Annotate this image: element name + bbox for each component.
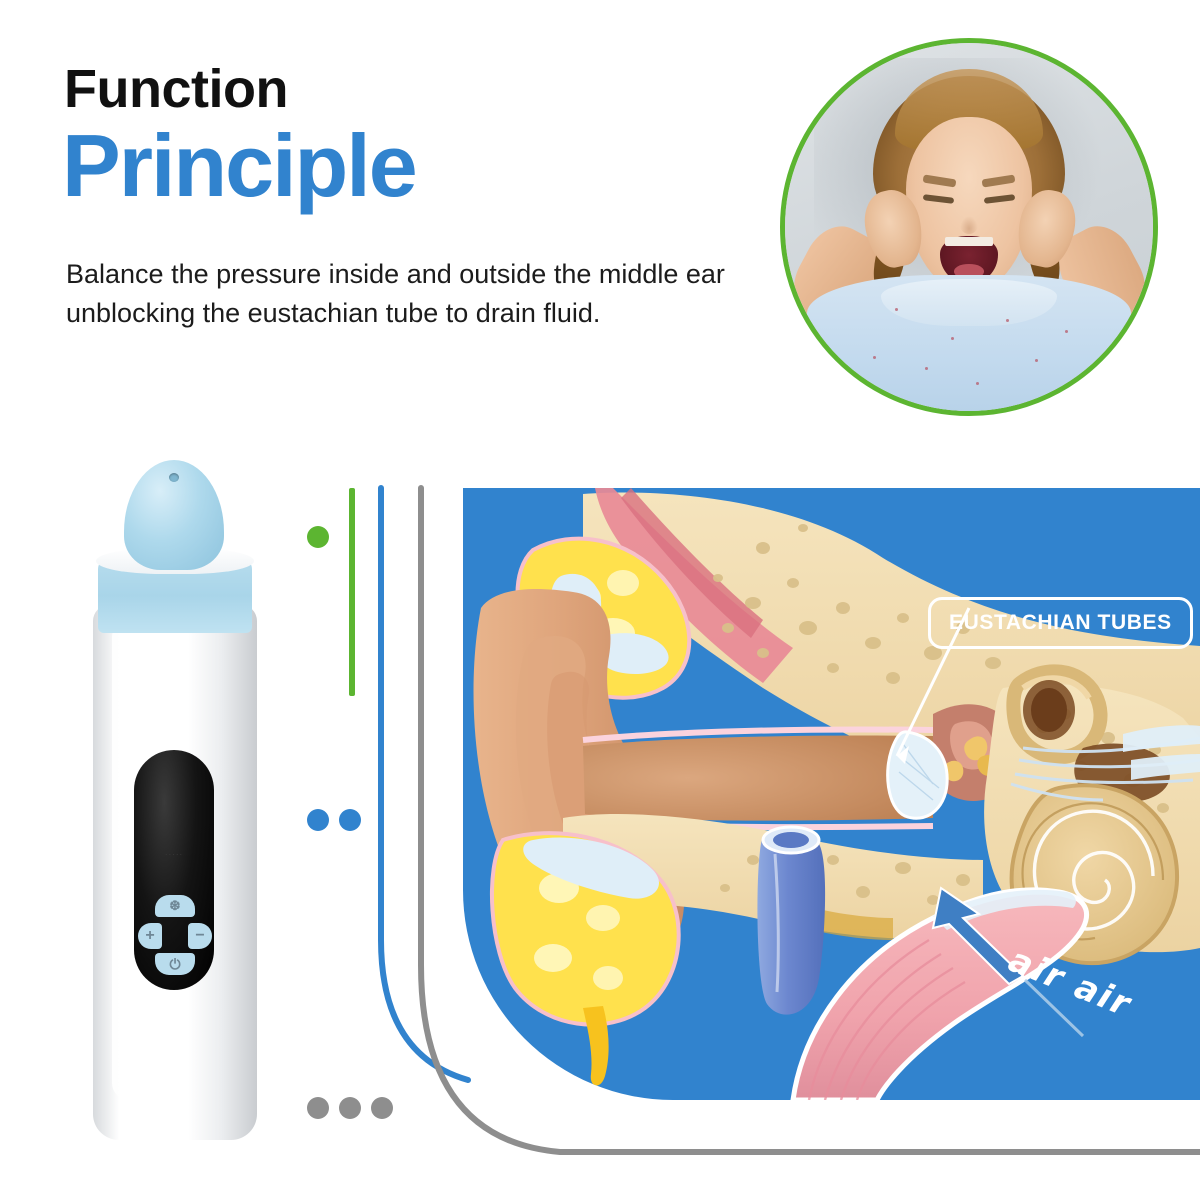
- device-control-pad: ❆ + − ⏻: [138, 895, 212, 975]
- green-accent-bar: [349, 488, 355, 696]
- device-screen-text: ·····: [146, 850, 202, 859]
- hero-photo-circle: [780, 38, 1158, 416]
- page-subtitle: Principle: [62, 122, 416, 210]
- infographic-canvas: Function Principle Balance the pressure …: [0, 0, 1200, 1200]
- ear-canal: [583, 735, 933, 820]
- eustachian-tubes-callout: EUSTACHIAN TUBES: [928, 597, 1193, 649]
- wax-drip: [583, 1006, 609, 1086]
- dress-collar: [881, 279, 1058, 327]
- page-title: Function: [64, 62, 288, 116]
- blue-dot-1: [307, 809, 329, 831]
- description-text: Balance the pressure inside and outside …: [66, 255, 726, 333]
- gray-dot-3: [371, 1097, 393, 1119]
- blue-dot-2: [339, 809, 361, 831]
- teeth: [945, 237, 993, 246]
- decrease-button[interactable]: −: [188, 923, 212, 949]
- power-button[interactable]: ⏻: [155, 953, 195, 975]
- mode-button[interactable]: ❆: [155, 895, 195, 917]
- gray-dot-2: [339, 1097, 361, 1119]
- device-product-image: ····· ❆ + − ⏻: [90, 455, 260, 1140]
- blue-curve-line: [381, 488, 468, 1080]
- green-dot-1: [307, 526, 329, 548]
- increase-button[interactable]: +: [138, 923, 162, 949]
- gray-dot-1: [307, 1097, 329, 1119]
- blood-vessel: [757, 828, 825, 1014]
- device-tip-nozzle-hole: [169, 473, 179, 482]
